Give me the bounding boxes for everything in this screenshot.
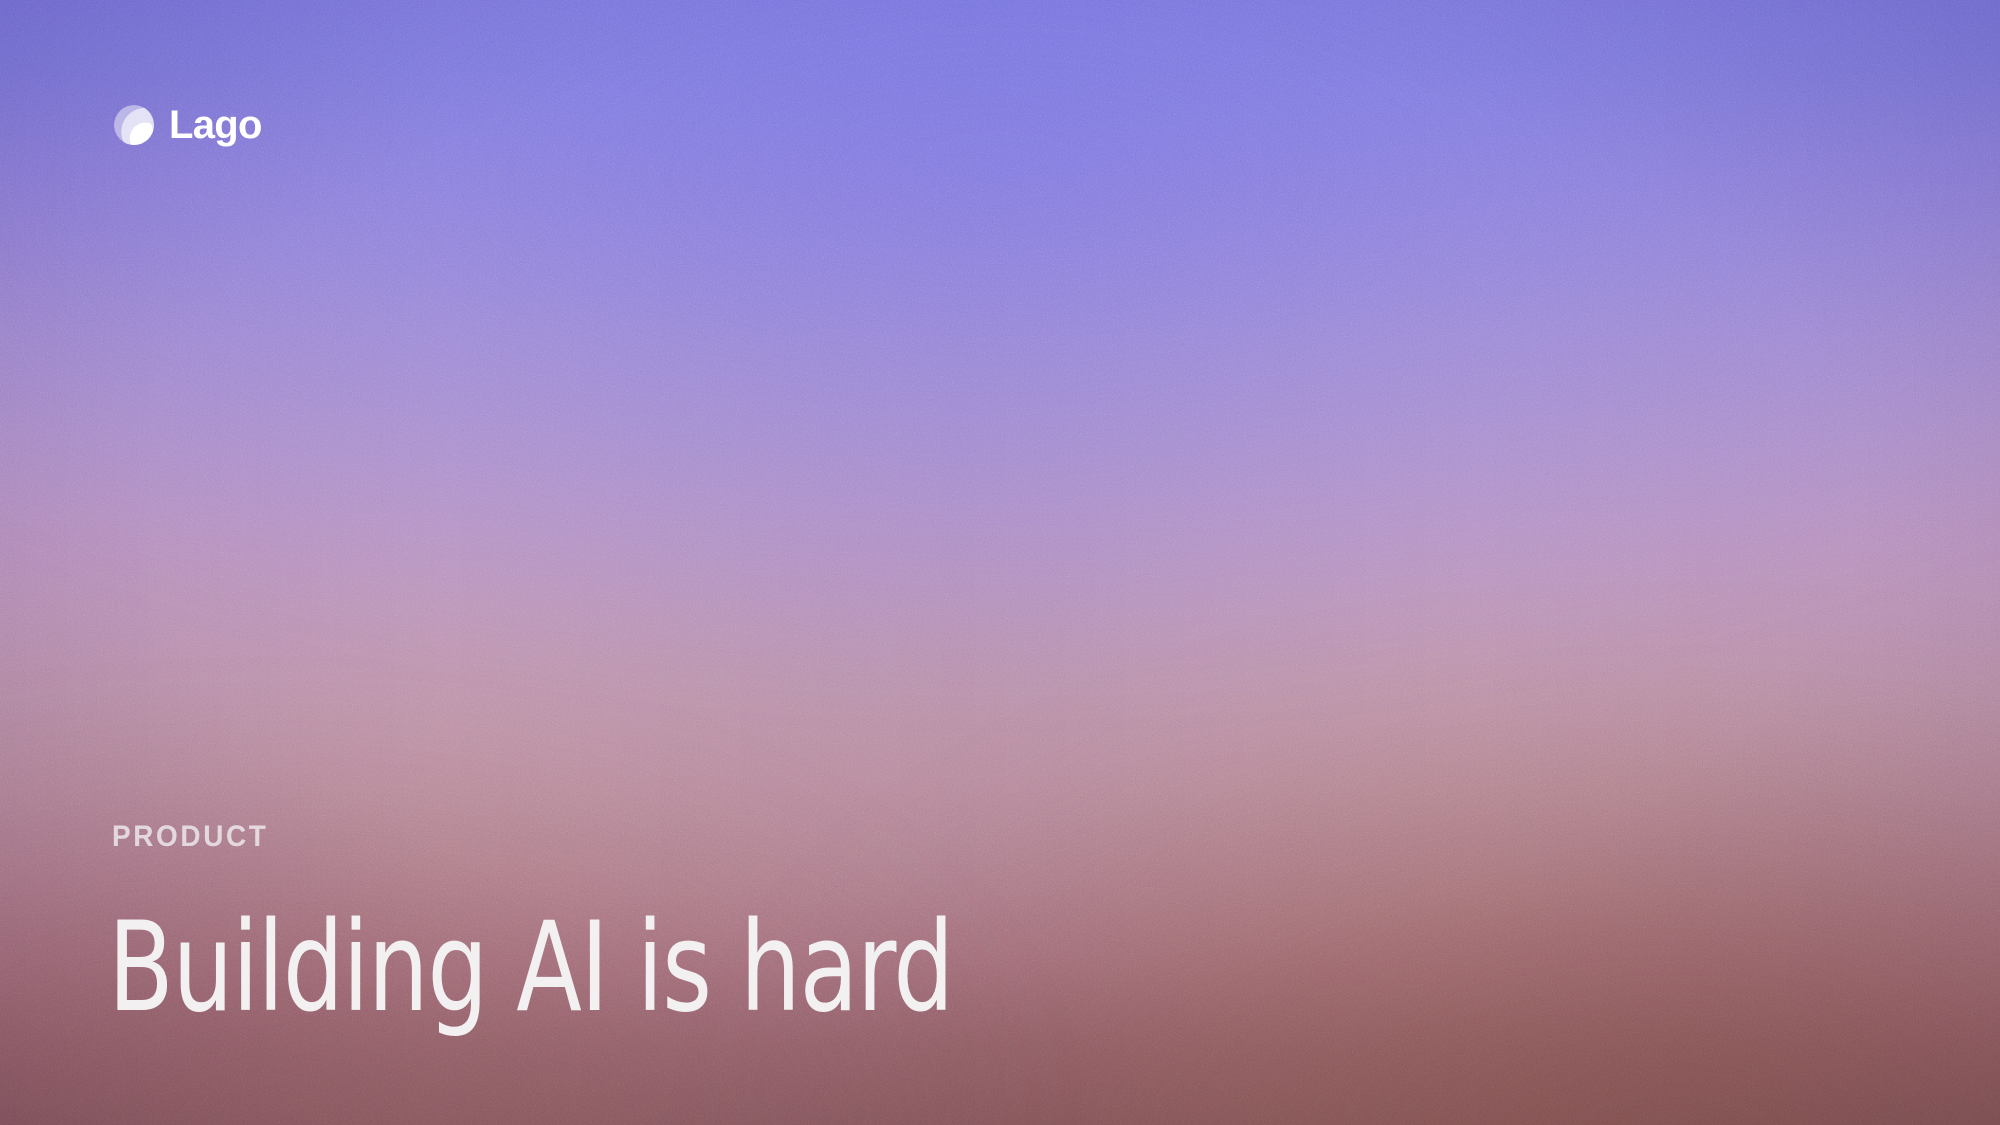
page-title: Building AI is hard [108, 906, 953, 1030]
banner-content: Lago PRODUCT Building AI is hard [0, 0, 2000, 1125]
hero-banner: Lago PRODUCT Building AI is hard [0, 0, 2000, 1125]
brand-wordmark: Lago [169, 105, 262, 145]
lago-sphere-icon [112, 103, 156, 147]
brand-logo-lockup[interactable]: Lago [112, 102, 262, 148]
category-eyebrow: PRODUCT [112, 822, 269, 852]
